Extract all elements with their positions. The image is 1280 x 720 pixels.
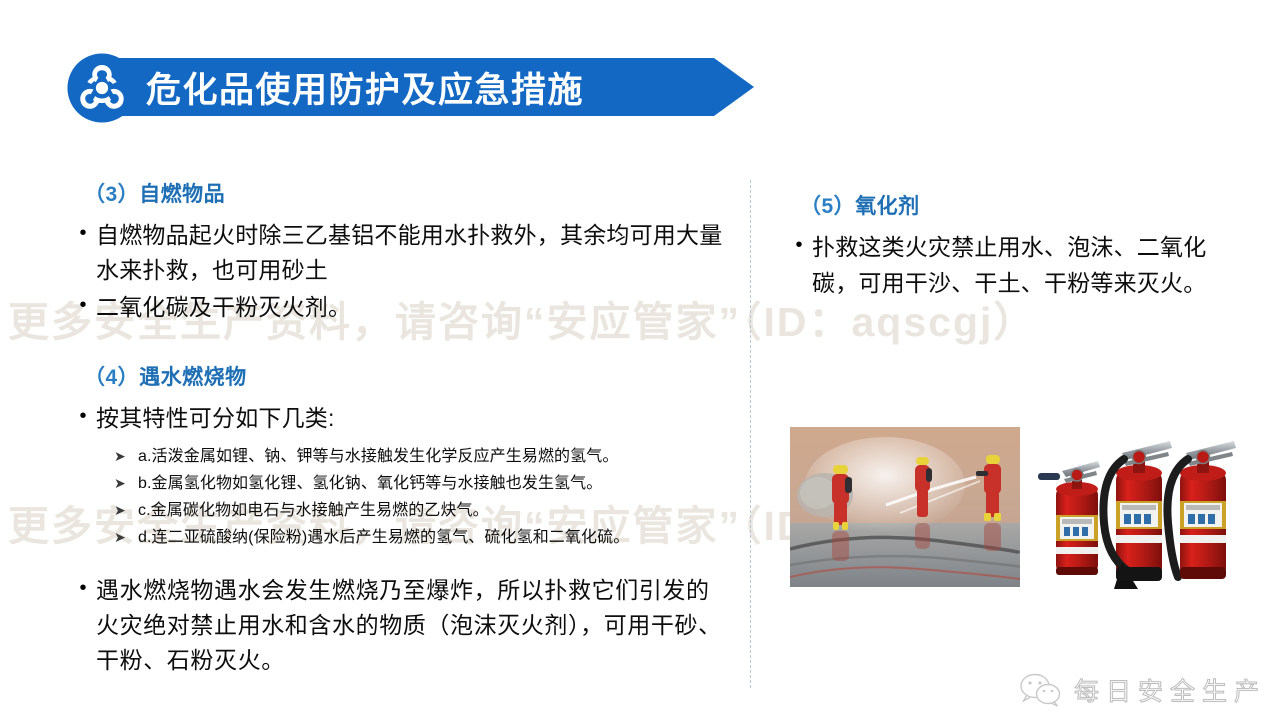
bullet-item: • 按其特性可分如下几类: bbox=[70, 401, 730, 436]
section-title-5: 氧化剂 bbox=[855, 195, 920, 218]
sub-bullet-item: ➤ b.金属氢化物如氢化锂、氢化钠、氧化钙等与水接触也发生氢气。 bbox=[114, 471, 730, 497]
arrow-right-icon: ➤ bbox=[114, 499, 138, 523]
section-water-reactive: （4）遇水燃烧物 • 按其特性可分如下几类: ➤ a.活泼金属如锂、钠、钾等与水… bbox=[70, 361, 730, 678]
bullet-text: 扑救这类火灾禁止用水、泡沫、二氧化碳，可用干沙、干土、干粉等来灭火。 bbox=[812, 230, 1246, 301]
biohazard-icon bbox=[66, 52, 138, 124]
arrow-right-icon: ➤ bbox=[114, 526, 138, 550]
bullet-item: • 自燃物品起火时除三乙基铝不能用水扑救外，其余均可用大量水来扑救，也可用砂土 bbox=[70, 218, 730, 288]
page-title: 危化品使用防护及应急措施 bbox=[146, 58, 584, 116]
footer-account-name: 每日安全生产 bbox=[1074, 672, 1266, 708]
fire-extinguishers-photo bbox=[1032, 425, 1237, 605]
section-number-3: （3） bbox=[84, 183, 139, 206]
bullet-dot-icon: • bbox=[786, 230, 812, 260]
bullet-item: • 遇水燃烧物遇水会发生燃烧乃至爆炸，所以扑救它们引发的火灾绝对禁止用水和含水的… bbox=[70, 573, 730, 678]
sub-bullet-text: d.连二亚硫酸纳(保险粉)遇水后产生易燃的氢气、硫化氢和二氧化硫。 bbox=[138, 525, 730, 551]
sub-list-spacer bbox=[70, 551, 730, 573]
section-spacer bbox=[70, 327, 730, 361]
image-group bbox=[790, 427, 1240, 607]
sub-bullet-text: a.活泼金属如锂、钠、钾等与水接触发生化学反应产生易燃的氢气。 bbox=[138, 444, 730, 470]
section-self-igniting: （3）自燃物品 • 自燃物品起火时除三乙基铝不能用水扑救外，其余均可用大量水来扑… bbox=[70, 178, 730, 325]
bullet-item: • 扑救这类火灾禁止用水、泡沫、二氧化碳，可用干沙、干土、干粉等来灭火。 bbox=[786, 230, 1246, 301]
sub-bullet-list: ➤ a.活泼金属如锂、钠、钾等与水接触发生化学反应产生易燃的氢气。 ➤ b.金属… bbox=[114, 444, 730, 551]
section-title-4: 遇水燃烧物 bbox=[139, 366, 247, 389]
footer-account: 每日安全生产 bbox=[1018, 672, 1266, 708]
section-number-5: （5） bbox=[800, 195, 855, 218]
bullet-text: 二氧化碳及干粉灭火剂。 bbox=[96, 290, 730, 325]
bullet-dot-icon: • bbox=[70, 573, 96, 603]
section-heading-4: （4）遇水燃烧物 bbox=[84, 361, 730, 391]
arrow-right-icon: ➤ bbox=[114, 445, 138, 469]
bullet-dot-icon: • bbox=[70, 218, 96, 248]
bullet-dot-icon: • bbox=[70, 401, 96, 431]
section-heading-3: （3）自燃物品 bbox=[84, 178, 730, 208]
sub-bullet-item: ➤ c.金属碳化物如电石与水接触产生易燃的乙炔气。 bbox=[114, 498, 730, 524]
sub-bullet-item: ➤ a.活泼金属如锂、钠、钾等与水接触发生化学反应产生易燃的氢气。 bbox=[114, 444, 730, 470]
arrow-right-icon: ➤ bbox=[114, 472, 138, 496]
bullet-item: • 二氧化碳及干粉灭火剂。 bbox=[70, 290, 730, 325]
column-divider bbox=[750, 180, 751, 688]
section-number-4: （4） bbox=[84, 366, 139, 389]
sub-bullet-text: b.金属氢化物如氢化锂、氢化钠、氧化钙等与水接触也发生氢气。 bbox=[138, 471, 730, 497]
bullet-text: 遇水燃烧物遇水会发生燃烧乃至爆炸，所以扑救它们引发的火灾绝对禁止用水和含水的物质… bbox=[96, 573, 730, 678]
section-title-3: 自燃物品 bbox=[139, 183, 225, 206]
bullet-text: 按其特性可分如下几类: bbox=[96, 401, 730, 436]
firefighting-training-photo bbox=[790, 427, 1020, 587]
sub-bullet-item: ➤ d.连二亚硫酸纳(保险粉)遇水后产生易燃的氢气、硫化氢和二氧化硫。 bbox=[114, 525, 730, 551]
left-column: （3）自燃物品 • 自燃物品起火时除三乙基铝不能用水扑救外，其余均可用大量水来扑… bbox=[70, 178, 730, 680]
bullet-dot-icon: • bbox=[70, 290, 96, 320]
sub-bullet-text: c.金属碳化物如电石与水接触产生易燃的乙炔气。 bbox=[138, 498, 730, 524]
wechat-icon bbox=[1018, 672, 1064, 708]
section-heading-5: （5）氧化剂 bbox=[800, 190, 1246, 220]
right-column: （5）氧化剂 • 扑救这类火灾禁止用水、泡沫、二氧化碳，可用干沙、干土、干粉等来… bbox=[786, 190, 1246, 303]
section-oxidizer: （5）氧化剂 • 扑救这类火灾禁止用水、泡沫、二氧化碳，可用干沙、干土、干粉等来… bbox=[786, 190, 1246, 301]
bullet-text: 自燃物品起火时除三乙基铝不能用水扑救外，其余均可用大量水来扑救，也可用砂土 bbox=[96, 218, 730, 288]
